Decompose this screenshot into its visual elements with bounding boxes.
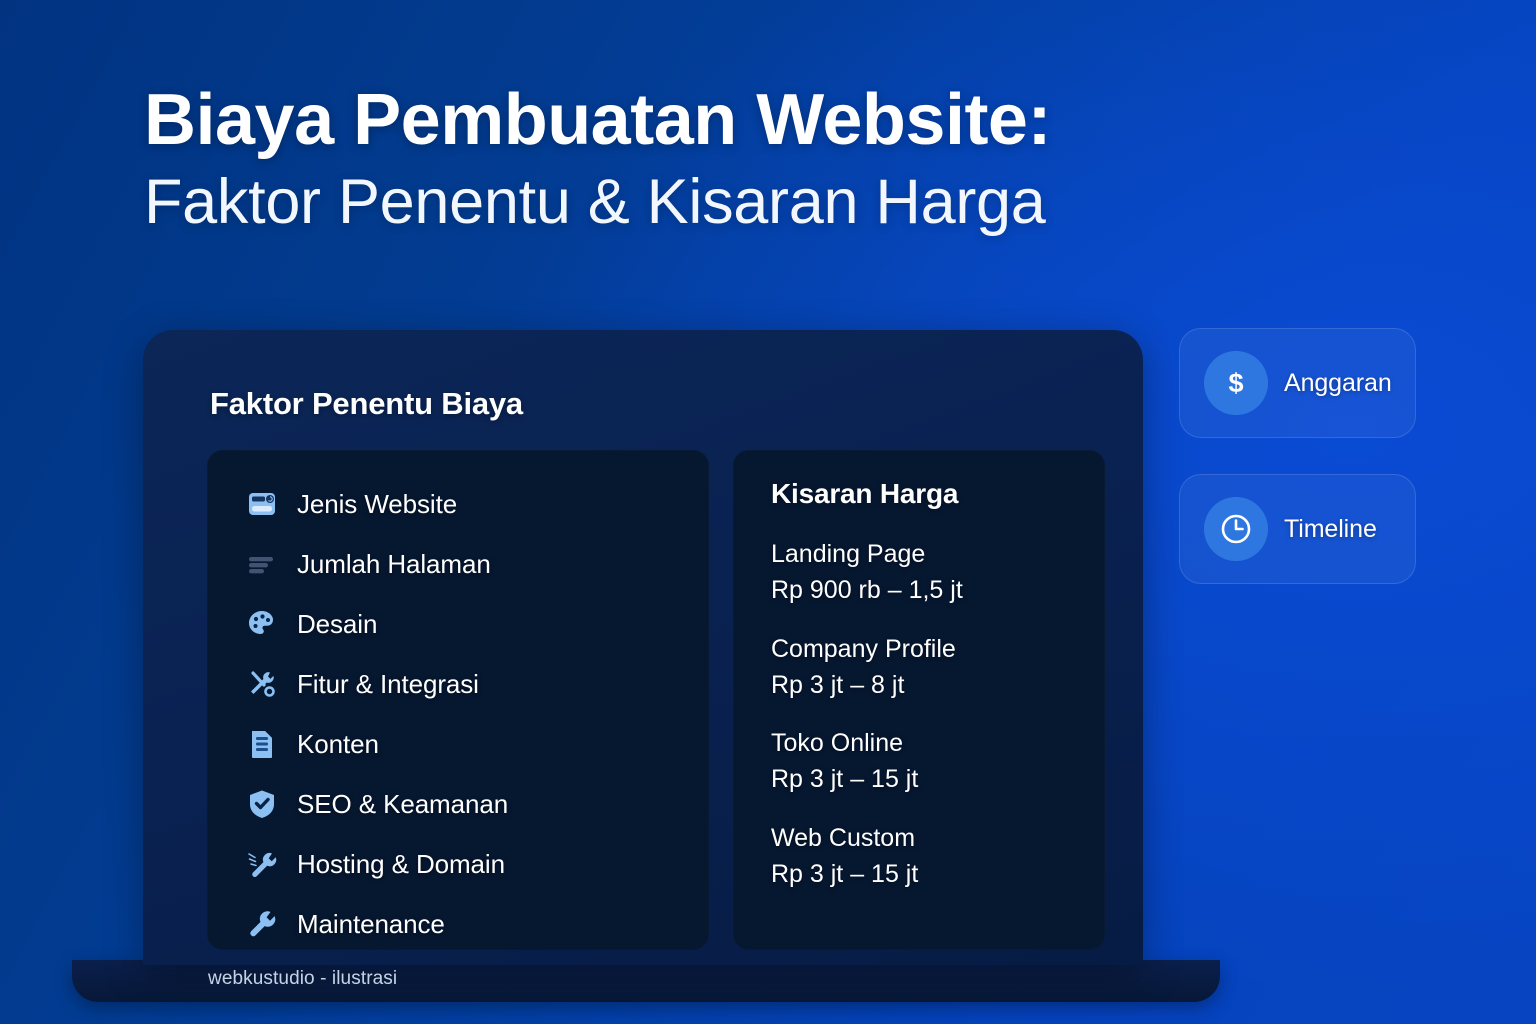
price-item-name: Landing Page — [771, 536, 1079, 572]
badge-label: Anggaran — [1284, 369, 1392, 398]
price-item-name: Toko Online — [771, 725, 1079, 761]
list-item-label: Maintenance — [297, 909, 445, 940]
badge-anggaran[interactable]: $ Anggaran — [1179, 328, 1416, 438]
badge-timeline[interactable]: Timeline — [1179, 474, 1416, 584]
wrench-icon — [245, 907, 279, 941]
price-item: Landing Page Rp 900 rb – 1,5 jt — [771, 536, 1079, 609]
price-item-range: Rp 900 rb – 1,5 jt — [771, 572, 1079, 608]
list-item[interactable]: Konten — [233, 714, 683, 774]
price-item-name: Web Custom — [771, 820, 1079, 856]
price-item: Toko Online Rp 3 jt – 15 jt — [771, 725, 1079, 798]
screen-heading: Faktor Penentu Biaya — [210, 386, 523, 422]
list-item[interactable]: Desain — [233, 594, 683, 654]
list-item[interactable]: Fitur & Integrasi — [233, 654, 683, 714]
lines-list-icon — [245, 547, 279, 581]
browser-window-icon — [245, 487, 279, 521]
list-item-label: Hosting & Domain — [297, 849, 505, 880]
document-icon — [245, 727, 279, 761]
prices-heading: Kisaran Harga — [771, 478, 1079, 510]
list-item[interactable]: Hosting & Domain — [233, 834, 683, 894]
factors-panel: Jenis Website Jumlah Halaman — [207, 450, 709, 950]
price-item-range: Rp 3 jt – 8 jt — [771, 667, 1079, 703]
tools-cross-icon — [245, 667, 279, 701]
svg-text:$: $ — [1228, 368, 1243, 398]
list-item-label: Konten — [297, 729, 379, 760]
title-line-primary: Biaya Pembuatan Website: — [144, 84, 1204, 156]
laptop-screen: Faktor Penentu Biaya Jenis Website — [143, 330, 1143, 965]
list-item-label: Fitur & Integrasi — [297, 669, 479, 700]
watermark-text: webkustudio - ilustrasi — [208, 968, 397, 990]
panels-container: Jenis Website Jumlah Halaman — [207, 450, 1105, 950]
price-item-name: Company Profile — [771, 631, 1079, 667]
badge-label: Timeline — [1284, 515, 1377, 544]
list-item[interactable]: Jenis Website — [233, 474, 683, 534]
price-item-range: Rp 3 jt – 15 jt — [771, 761, 1079, 797]
title-line-secondary: Faktor Penentu & Kisaran Harga — [144, 160, 1204, 245]
wrench-sparkle-icon — [245, 847, 279, 881]
price-item: Web Custom Rp 3 jt – 15 jt — [771, 820, 1079, 893]
dollar-sign-icon: $ — [1204, 351, 1268, 415]
list-item-label: Jumlah Halaman — [297, 549, 491, 580]
list-item[interactable]: SEO & Keamanan — [233, 774, 683, 834]
price-item: Company Profile Rp 3 jt – 8 jt — [771, 631, 1079, 704]
palette-icon — [245, 607, 279, 641]
list-item[interactable]: Jumlah Halaman — [233, 534, 683, 594]
price-item-range: Rp 3 jt – 15 jt — [771, 856, 1079, 892]
prices-panel: Kisaran Harga Landing Page Rp 900 rb – 1… — [733, 450, 1105, 950]
list-item-label: SEO & Keamanan — [297, 789, 508, 820]
list-item-label: Jenis Website — [297, 489, 457, 520]
page-title: Biaya Pembuatan Website: Faktor Penentu … — [144, 84, 1204, 245]
list-item-label: Desain — [297, 609, 377, 640]
clock-icon — [1204, 497, 1268, 561]
list-item[interactable]: Maintenance — [233, 894, 683, 954]
shield-check-icon — [245, 787, 279, 821]
